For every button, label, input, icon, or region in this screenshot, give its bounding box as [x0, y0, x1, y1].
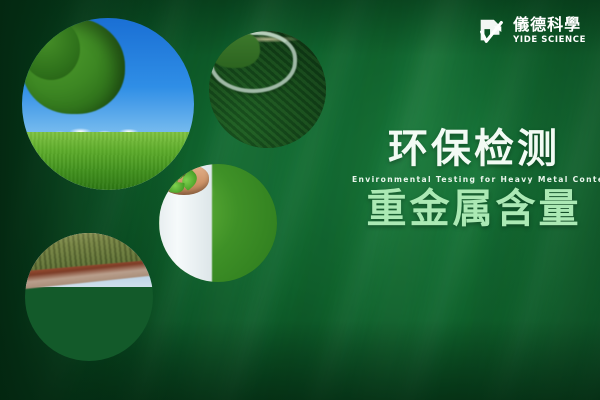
photo-circle-aerial-river-forest [209, 31, 326, 148]
brand-logo-text: 儀德科學 YIDE SCIENCE [513, 17, 586, 45]
title-line-1: 环保检测 [352, 128, 596, 170]
brand-logo[interactable]: 儀德科學 YIDE SCIENCE [476, 16, 586, 46]
subtitle-english: Environmental Testing for Heavy Metal Co… [352, 175, 596, 184]
headline-block: 环保检测 Environmental Testing for Heavy Met… [352, 128, 596, 230]
title-line-2: 重金属含量 [352, 188, 596, 230]
seedling-leaves [159, 164, 199, 197]
river-island [209, 31, 260, 68]
tree-trunk [22, 18, 31, 46]
photo-circle-contaminated-tailings-pond [25, 233, 153, 361]
promo-banner: 儀德科學 YIDE SCIENCE 环保检测 Environmental Tes… [0, 0, 600, 400]
brand-name-en: YIDE SCIENCE [513, 36, 586, 45]
tree-canopy-left [22, 18, 80, 80]
brand-name-cn: 儀德科學 [513, 17, 586, 33]
photo-circle-hands-holding-seedling [159, 164, 277, 282]
check-arrow-mark-icon [476, 16, 506, 46]
